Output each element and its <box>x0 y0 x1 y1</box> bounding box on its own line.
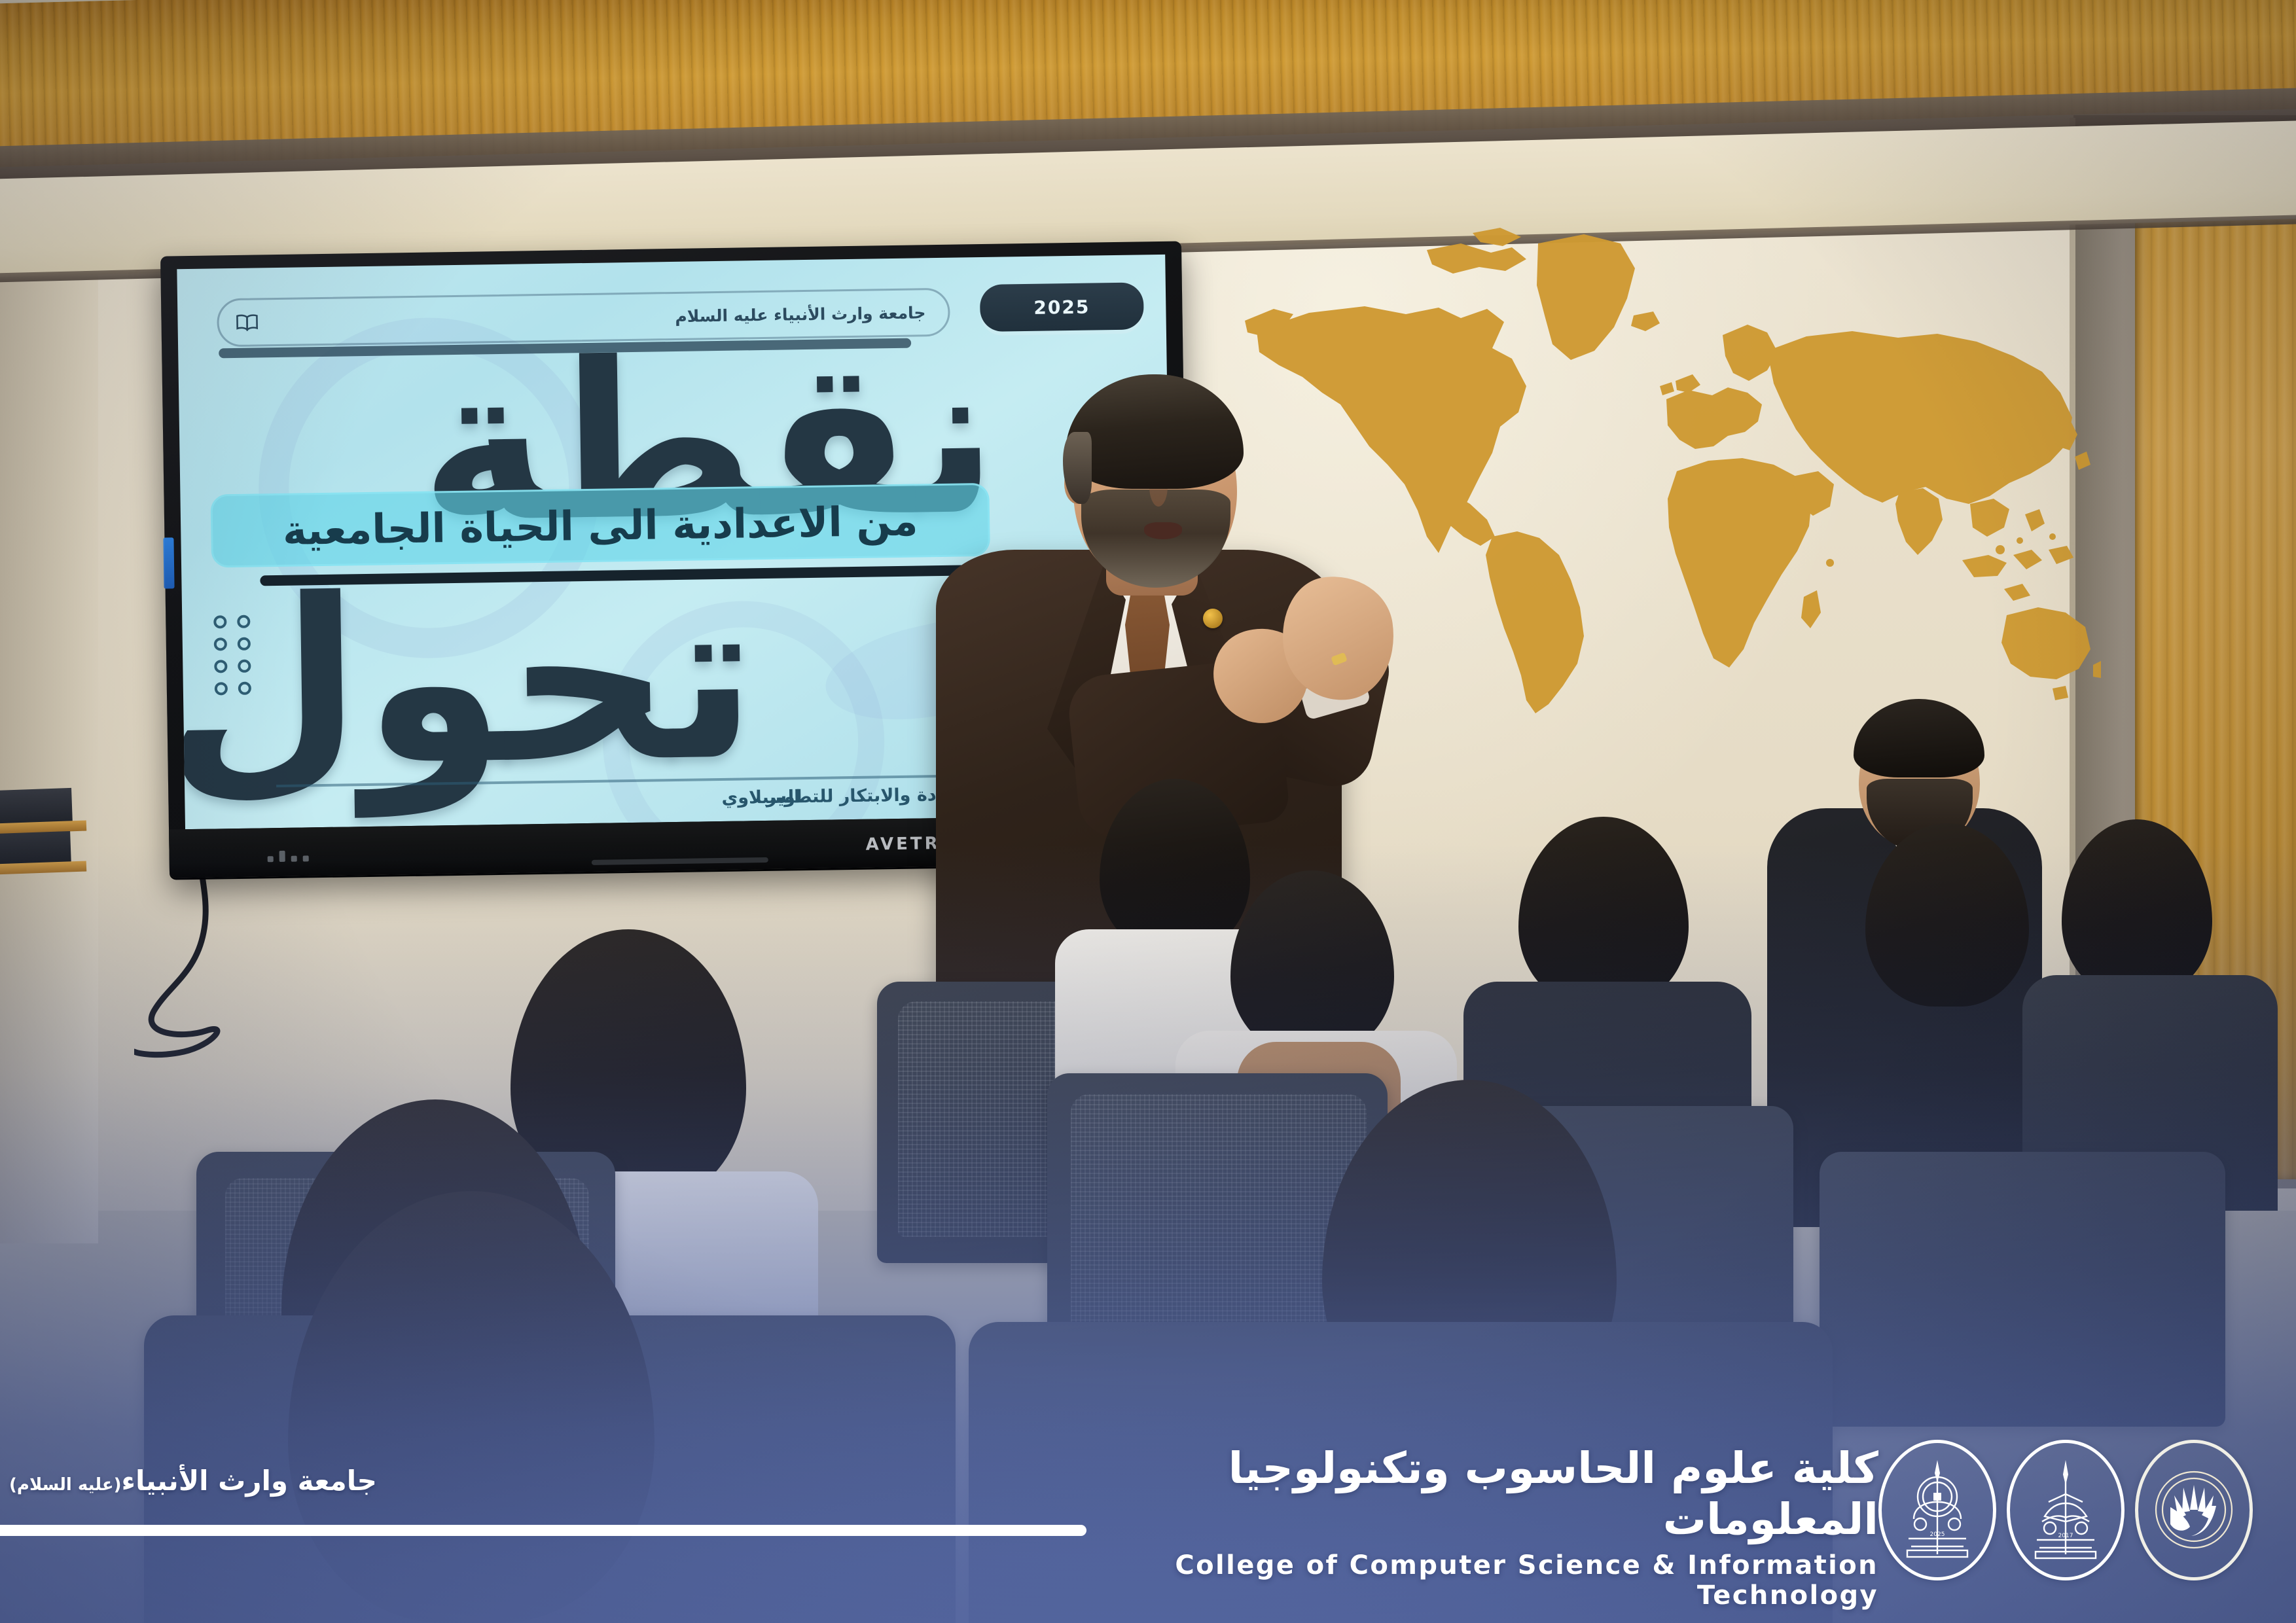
display-ir-notch <box>592 857 768 865</box>
logo-university-seal: 2017 <box>2007 1440 2125 1580</box>
display-side-indicator <box>163 537 174 588</box>
wall-shelf-bracket-top <box>0 788 73 826</box>
logo-ministry-higher-education <box>2135 1440 2253 1580</box>
slide-year-badge: 2025 <box>980 282 1144 332</box>
footer-college-arabic: كلية علوم الحاسوب وتكنولوجيا المعلومات <box>1106 1443 1878 1545</box>
photo-canvas: جامعة وارث الأنبياء عليه السلام 2025 نقط… <box>0 0 2296 1623</box>
svg-text:2025: 2025 <box>1930 1531 1945 1538</box>
logo-university-cs-seal: 2025 <box>1878 1440 1996 1580</box>
svg-text:2017: 2017 <box>2058 1533 2073 1539</box>
slide-year-text: 2025 <box>1033 296 1090 318</box>
footer-university-left-name: جامعة وارث الأنبياء <box>122 1465 377 1497</box>
footer-college-english: College of Computer Science & Informatio… <box>1106 1550 1878 1611</box>
footer-college-block: كلية علوم الحاسوب وتكنولوجيا المعلومات C… <box>1106 1443 1878 1611</box>
open-book-icon <box>236 313 258 331</box>
slide-headline-bottom: تحول <box>177 568 759 794</box>
slide-footer-secondary-label: السبلاوي <box>721 787 800 808</box>
presenter-mouth <box>1144 522 1182 539</box>
footer-rule-line <box>0 1525 1086 1536</box>
footer-logo-group: 2025 2017 <box>1878 1440 2253 1580</box>
display-control-buttons[interactable] <box>268 850 309 862</box>
chair-back <box>1820 1152 2225 1427</box>
footer-university-left: جامعة وارث الأنبياء(عليه السلام) <box>9 1465 377 1497</box>
footer-university-left-suffix: (عليه السلام) <box>9 1475 122 1495</box>
presenter-lapel-pin <box>1203 609 1223 628</box>
